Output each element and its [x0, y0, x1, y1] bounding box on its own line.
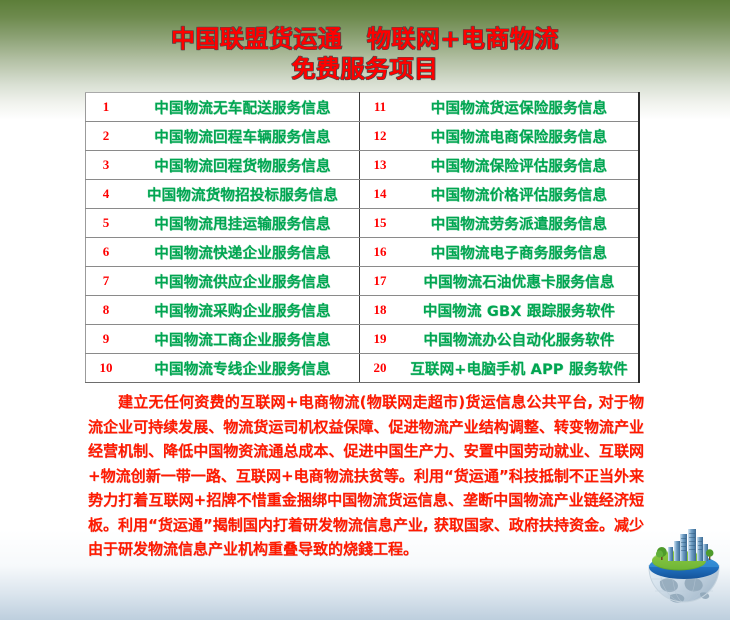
row-number: 7: [86, 267, 127, 296]
row-number: 4: [86, 180, 127, 209]
table-row: 7 中国物流供应企业服务信息 17 中国物流石油优惠卡服务信息: [86, 267, 640, 296]
service-item[interactable]: 中国物流石油优惠卡服务信息: [400, 267, 639, 296]
table-row: 8 中国物流采购企业服务信息 18 中国物流 GBX 跟踪服务软件: [86, 296, 640, 325]
service-item[interactable]: 中国物流供应企业服务信息: [126, 267, 360, 296]
earth-city-globe-icon: [640, 521, 728, 613]
row-number: 8: [86, 296, 127, 325]
service-item[interactable]: 中国物流 GBX 跟踪服务软件: [400, 296, 639, 325]
row-number: 13: [360, 151, 401, 180]
service-item[interactable]: 中国物流货运保险服务信息: [400, 93, 639, 122]
service-item[interactable]: 中国物流电商保险服务信息: [400, 122, 639, 151]
service-item[interactable]: 中国物流电子商务服务信息: [400, 238, 639, 267]
row-number: 17: [360, 267, 401, 296]
row-number: 12: [360, 122, 401, 151]
description-paragraph: 建立无任何资费的互联网+电商物流(物联网走超市)货运信息公共平台, 对于物流企业…: [88, 390, 644, 562]
service-item[interactable]: 中国物流工商企业服务信息: [126, 325, 360, 354]
service-item[interactable]: 中国物流货物招投标服务信息: [126, 180, 360, 209]
table-row: 10 中国物流专线企业服务信息 20 互联网+电脑手机 APP 服务软件: [86, 354, 640, 383]
service-item[interactable]: 中国物流回程车辆服务信息: [126, 122, 360, 151]
row-number: 14: [360, 180, 401, 209]
table-row: 6 中国物流快递企业服务信息 16 中国物流电子商务服务信息: [86, 238, 640, 267]
service-item[interactable]: 中国物流劳务派遣服务信息: [400, 209, 639, 238]
row-number: 2: [86, 122, 127, 151]
title-line-2: 免费服务项目: [0, 54, 730, 84]
row-number: 16: [360, 238, 401, 267]
table-row: 4 中国物流货物招投标服务信息 14 中国物流价格评估服务信息: [86, 180, 640, 209]
row-number: 9: [86, 325, 127, 354]
table-body: 1 中国物流无车配送服务信息 11 中国物流货运保险服务信息 2 中国物流回程车…: [86, 93, 640, 383]
free-service-items-table: 1 中国物流无车配送服务信息 11 中国物流货运保险服务信息 2 中国物流回程车…: [85, 92, 640, 383]
service-item[interactable]: 中国物流专线企业服务信息: [126, 354, 360, 383]
service-item[interactable]: 中国物流快递企业服务信息: [126, 238, 360, 267]
service-item[interactable]: 中国物流回程货物服务信息: [126, 151, 360, 180]
row-number: 19: [360, 325, 401, 354]
table-row: 2 中国物流回程车辆服务信息 12 中国物流电商保险服务信息: [86, 122, 640, 151]
service-item[interactable]: 互联网+电脑手机 APP 服务软件: [400, 354, 639, 383]
table-row: 1 中国物流无车配送服务信息 11 中国物流货运保险服务信息: [86, 93, 640, 122]
table-row: 5 中国物流甩挂运输服务信息 15 中国物流劳务派遣服务信息: [86, 209, 640, 238]
page-title: 中国联盟货运通 物联网+电商物流 免费服务项目: [0, 24, 730, 84]
row-number: 1: [86, 93, 127, 122]
service-item[interactable]: 中国物流采购企业服务信息: [126, 296, 360, 325]
service-item[interactable]: 中国物流价格评估服务信息: [400, 180, 639, 209]
service-item[interactable]: 中国物流办公自动化服务软件: [400, 325, 639, 354]
service-item[interactable]: 中国物流甩挂运输服务信息: [126, 209, 360, 238]
row-number: 10: [86, 354, 127, 383]
service-item[interactable]: 中国物流保险评估服务信息: [400, 151, 639, 180]
slide-canvas: 中国联盟货运通 物联网+电商物流 免费服务项目 1 中国物流无车配送服务信息 1…: [0, 0, 730, 620]
row-number: 6: [86, 238, 127, 267]
row-number: 15: [360, 209, 401, 238]
title-line-1: 中国联盟货运通 物联网+电商物流: [0, 24, 730, 54]
table-row: 9 中国物流工商企业服务信息 19 中国物流办公自动化服务软件: [86, 325, 640, 354]
table-row: 3 中国物流回程货物服务信息 13 中国物流保险评估服务信息: [86, 151, 640, 180]
row-number: 20: [360, 354, 401, 383]
row-number: 18: [360, 296, 401, 325]
service-item[interactable]: 中国物流无车配送服务信息: [126, 93, 360, 122]
row-number: 11: [360, 93, 401, 122]
row-number: 5: [86, 209, 127, 238]
row-number: 3: [86, 151, 127, 180]
